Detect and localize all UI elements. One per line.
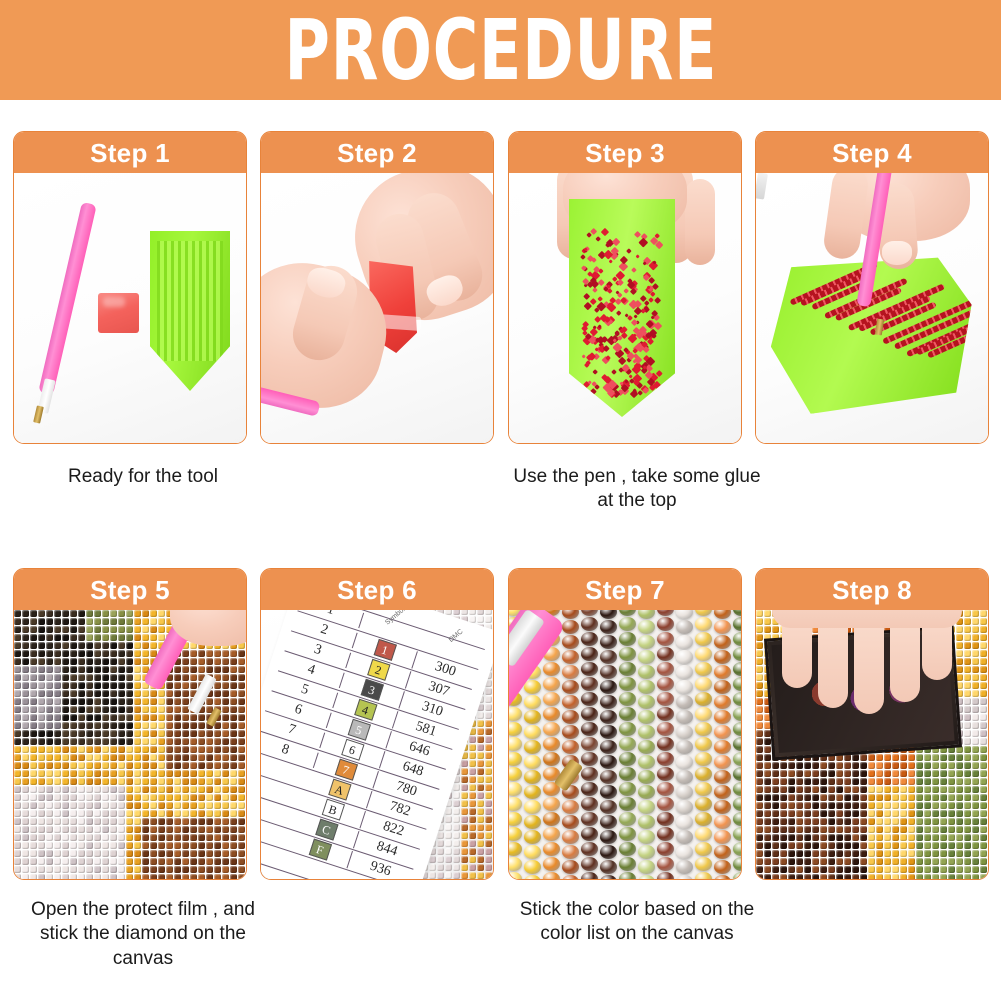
page-title: PROCEDURE — [284, 8, 717, 92]
step-6-label: Step 6 — [337, 577, 417, 603]
step-2-header: Step 2 — [261, 132, 493, 173]
step-5-photo — [14, 610, 246, 879]
step-2-label: Step 2 — [337, 140, 417, 166]
step-8-photo — [756, 610, 988, 879]
step-card-3-column: Step 3 Carry one color diamond into the … — [508, 131, 742, 444]
step-card-7[interactable]: Step 7 — [508, 568, 742, 880]
step-card-5[interactable]: Step 5 — [13, 568, 247, 880]
step-5-caption: Open the protect film , and stick the di… — [18, 898, 268, 971]
procedure-infographic: PROCEDURE Step 1 Ready — [0, 0, 1001, 1001]
step-card-1-column: Step 1 Ready for the tool — [13, 131, 247, 444]
step-card-5-column: Step 5 Open the protect film , and stick… — [13, 568, 247, 880]
step-card-4-column: Step 4 Use the pen stick the diamond — [755, 131, 989, 444]
step-4-label: Step 4 — [832, 140, 912, 166]
step-card-2-column: Step 2 Use the pen , take so — [260, 131, 494, 444]
step-7-photo — [509, 610, 741, 879]
step-5-header: Step 5 — [14, 569, 246, 610]
step-8-label: Step 8 — [832, 577, 912, 603]
step-card-6-column: Step 6 Serial No.SymbolDMC12130032307433… — [260, 568, 494, 880]
step-3-label: Step 3 — [585, 140, 665, 166]
step-1-caption: Ready for the tool — [18, 465, 268, 489]
step-card-4[interactable]: Step 4 — [755, 131, 989, 444]
finger-icon — [685, 179, 715, 265]
step-card-2[interactable]: Step 2 — [260, 131, 494, 444]
step-1-label: Step 1 — [90, 140, 170, 166]
step-4-photo — [756, 173, 988, 443]
step-3-photo — [509, 173, 741, 443]
fingernail-icon — [882, 241, 912, 265]
step-card-7-column: Step 7 The canvas have glue , can stick … — [508, 568, 742, 880]
step-3-header: Step 3 — [509, 132, 741, 173]
red-diamonds-scatter — [569, 199, 675, 417]
step-4-header: Step 4 — [756, 132, 988, 173]
step-card-6[interactable]: Step 6 Serial No.SymbolDMC12130032307433… — [260, 568, 494, 880]
step-card-8[interactable]: Step 8 — [755, 568, 989, 880]
page-header-band: PROCEDURE — [0, 0, 1001, 100]
green-tray-icon — [569, 199, 675, 417]
tray-ribs — [157, 241, 223, 361]
step-2-caption: Use the pen , take some glue at the top — [512, 465, 762, 514]
step-card-8-column: Step 8 After finished the picture , plea… — [755, 568, 989, 880]
step-2-photo — [261, 173, 493, 443]
sunflower-mosaic-canvas — [14, 610, 246, 879]
step-6-photo: Serial No.SymbolDMC121300323074331054581… — [261, 610, 493, 879]
step-5-label: Step 5 — [90, 577, 170, 603]
step-7-label: Step 7 — [585, 577, 665, 603]
glue-square-icon — [98, 293, 139, 333]
step-8-header: Step 8 — [756, 569, 988, 610]
step-6-header: Step 6 — [261, 569, 493, 610]
step-7-header: Step 7 — [509, 569, 741, 610]
step-6-caption: Stick the color based on the color list … — [512, 898, 762, 947]
step-card-3[interactable]: Step 3 — [508, 131, 742, 444]
step-1-photo — [14, 173, 246, 443]
step-1-header: Step 1 — [14, 132, 246, 173]
step-card-1[interactable]: Step 1 — [13, 131, 247, 444]
